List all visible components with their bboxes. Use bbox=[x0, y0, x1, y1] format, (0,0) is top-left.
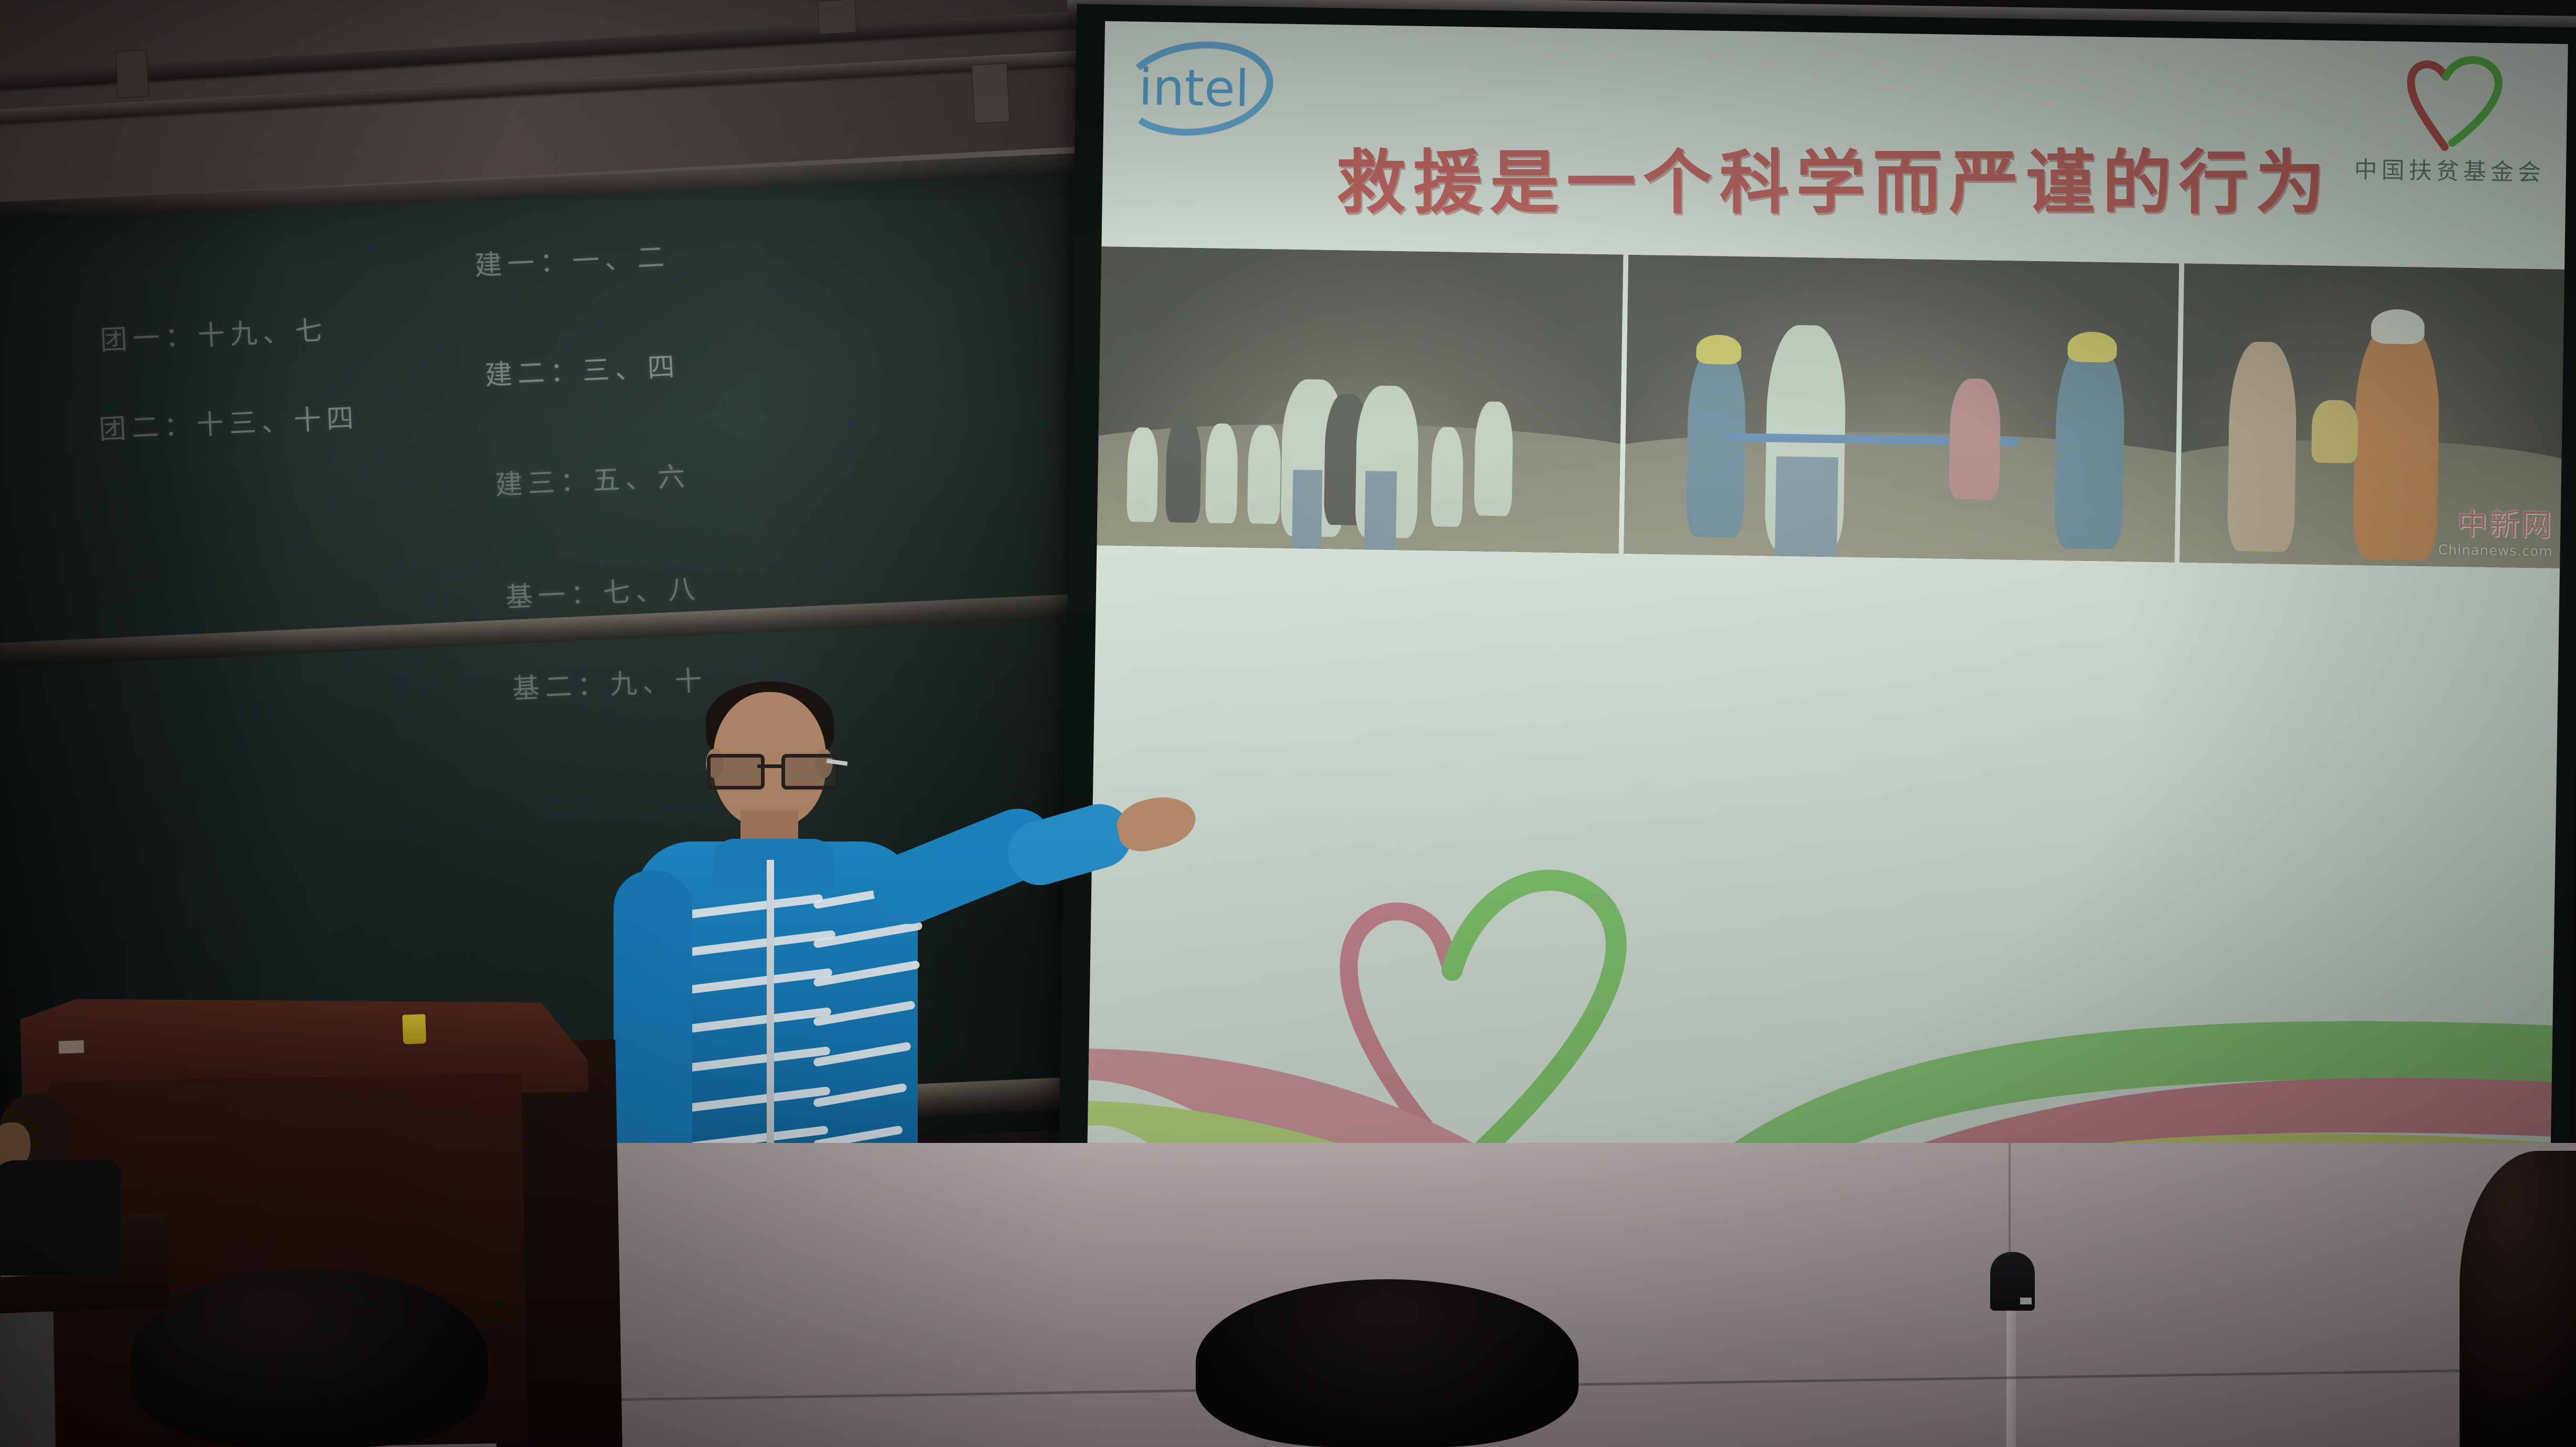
slide-photo-strip: 中新网 Chinanews.com bbox=[1097, 246, 2564, 568]
svg-text:intel: intel bbox=[1138, 58, 1250, 118]
photo-rescue-team-stretcher bbox=[1624, 255, 2179, 562]
classroom-scene: 团一：十九、七 团二：十三、十四 建一：一、二 建二：三、四 建三：五、六 基一… bbox=[0, 0, 2576, 1447]
rail-bracket bbox=[971, 63, 1010, 123]
photo-firefighter-carrying-equipment: 中新网 Chinanews.com bbox=[2180, 264, 2564, 568]
heart-ribbon-decoration bbox=[1087, 765, 2556, 1176]
speaker-label bbox=[2020, 1298, 2032, 1304]
foreground-audience-head-left bbox=[131, 1269, 488, 1447]
photo-watermark: 中新网 Chinanews.com bbox=[2438, 508, 2553, 558]
photo-villagers-carrying-injured bbox=[1097, 246, 1623, 554]
seated-audience-member bbox=[0, 1093, 121, 1266]
yellow-cup bbox=[402, 1014, 426, 1044]
lectern-label bbox=[59, 1040, 84, 1054]
glasses bbox=[707, 754, 832, 782]
foreground-audience-head-center bbox=[1196, 1279, 1579, 1447]
intel-logo: intel bbox=[1115, 35, 1279, 143]
watermark-en: Chinanews.com bbox=[2438, 543, 2553, 558]
rail-bracket bbox=[817, 0, 856, 35]
slide-title: 救援是一个科学而严谨的行为 bbox=[1103, 127, 2566, 227]
presentation-slide: intel 中国扶贫基金会 救援是一个科学而严谨的行为 bbox=[1087, 21, 2568, 1176]
watermark-cn: 中新网 bbox=[2439, 508, 2553, 540]
rail-bracket bbox=[115, 49, 149, 98]
